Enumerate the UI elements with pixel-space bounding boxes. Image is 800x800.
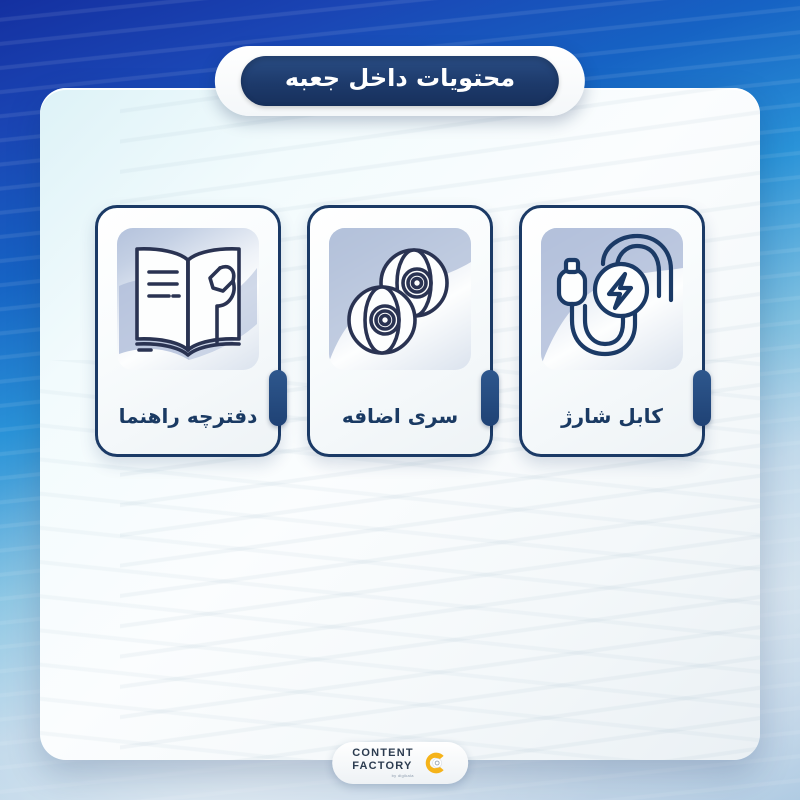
item-label: دفترچه راهنما — [98, 404, 278, 428]
content-factory-c-icon — [422, 750, 448, 776]
card-tab-accent — [481, 370, 499, 426]
card-tab-accent — [693, 370, 711, 426]
title-pill-frame: محتویات داخل جعبه — [215, 46, 585, 116]
logo-wordmark: CONTENT FACTORY by digikala — [352, 748, 414, 778]
item-card-manual[interactable]: دفترچه راهنما — [95, 205, 281, 457]
manual-book-wrench-icon — [117, 228, 259, 370]
item-card-charging-cable[interactable]: کابل شارژ — [519, 205, 705, 457]
item-label: سری اضافه — [310, 404, 490, 428]
logo-line-2: FACTORY — [352, 761, 414, 772]
title-text: محتویات داخل جعبه — [285, 65, 515, 93]
item-label: کابل شارژ — [522, 404, 702, 428]
charging-cable-bolt-icon — [541, 228, 683, 370]
items-row: دفترچه راهنما — [0, 205, 800, 457]
footer-brand-logo[interactable]: CONTENT FACTORY by digikala — [332, 742, 468, 784]
title-pill: محتویات داخل جعبه — [241, 56, 559, 106]
logo-subtext: by digikala — [352, 774, 414, 778]
infographic-canvas: محتویات داخل جعبه — [0, 0, 800, 800]
card-tab-accent — [269, 370, 287, 426]
logo-line-1: CONTENT — [352, 748, 414, 759]
earbud-tips-icon — [329, 228, 471, 370]
item-card-extra-tips[interactable]: سری اضافه — [307, 205, 493, 457]
page-title: محتویات داخل جعبه — [215, 46, 585, 116]
